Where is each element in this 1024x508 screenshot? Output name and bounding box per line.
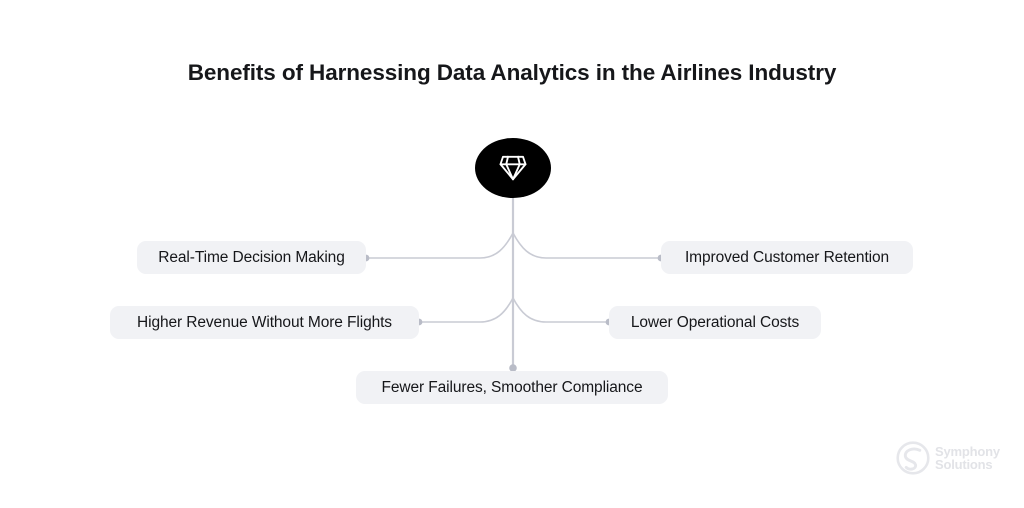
symphony-s-circle-logo-icon <box>896 441 930 475</box>
connector-branch-row1-right <box>513 233 659 258</box>
benefit-pill-lower-operational-costs[interactable]: Lower Operational Costs <box>609 306 821 339</box>
watermark-logo: Symphony Solutions <box>896 441 1000 475</box>
watermark-text: Symphony Solutions <box>935 445 1000 471</box>
connector-branch-row1-left <box>368 233 513 258</box>
watermark-line-2: Solutions <box>935 458 1000 471</box>
center-node <box>475 138 551 198</box>
infographic-canvas: Benefits of Harnessing Data Analytics in… <box>0 0 1024 508</box>
benefit-pill-fewer-failures-smoother-compliance[interactable]: Fewer Failures, Smoother Compliance <box>356 371 668 404</box>
benefit-pill-real-time-decision-making[interactable]: Real-Time Decision Making <box>137 241 366 274</box>
connector-branch-row2-left <box>421 298 513 322</box>
diamond-gem-icon <box>498 154 528 182</box>
connector-branch-row2-right <box>513 298 607 322</box>
benefit-pill-improved-customer-retention[interactable]: Improved Customer Retention <box>661 241 913 274</box>
benefit-pill-higher-revenue-without-more-flights[interactable]: Higher Revenue Without More Flights <box>110 306 419 339</box>
